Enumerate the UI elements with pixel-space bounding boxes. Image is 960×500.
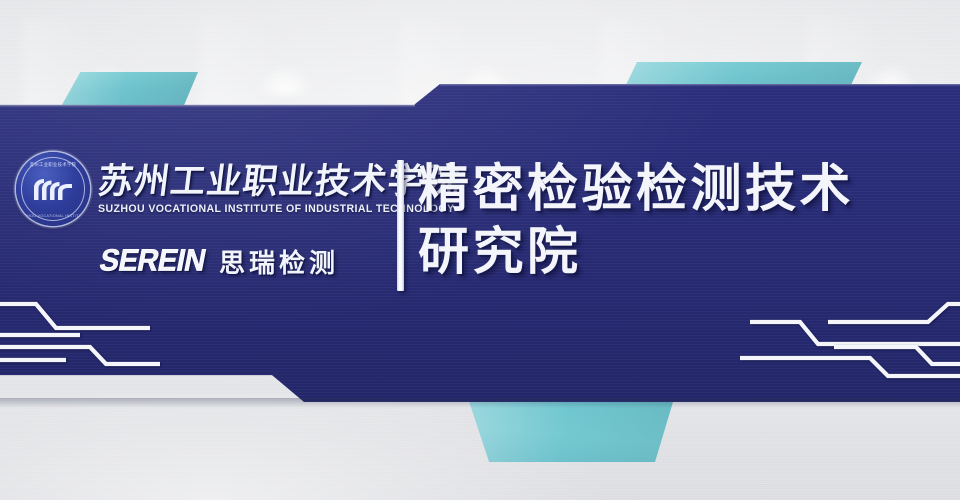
university-name-block: 苏州工业职业技术学院 SUZHOU VOCATIONAL INSTITUTE O… bbox=[98, 163, 460, 216]
partner-brand-row: SEREIN 思瑞检测 bbox=[100, 243, 398, 280]
circuit-trace-group-left bbox=[0, 288, 230, 388]
partner-brand-en: SEREIN bbox=[97, 244, 209, 279]
university-name-en: SUZHOU VOCATIONAL INSTITUTE OF INDUSTRIA… bbox=[98, 203, 460, 215]
partner-brand-cn: 思瑞检测 bbox=[219, 243, 339, 280]
teal-trapezoid-bottom-center bbox=[466, 392, 676, 462]
page-title-line-1: 精密检验检测技术 bbox=[418, 158, 946, 221]
teal-shading bbox=[466, 392, 676, 462]
university-identity-row: 苏州工业职业技术学院 SUZHOU VOCATIONAL INSTITUTE bbox=[16, 152, 398, 226]
page-title-line-2: 研究院 bbox=[418, 221, 946, 284]
university-crest-icon: 苏州工业职业技术学院 SUZHOU VOCATIONAL INSTITUTE bbox=[16, 152, 90, 226]
page-title: 精密检验检测技术 研究院 bbox=[418, 158, 946, 284]
university-name-cn: 苏州工业职业技术学院 bbox=[96, 163, 463, 201]
spotlight-core-2 bbox=[250, 30, 320, 94]
circuit-trace-group-right bbox=[730, 288, 960, 388]
institution-logo-block: 苏州工业职业技术学院 SUZHOU VOCATIONAL INSTITUTE bbox=[16, 152, 398, 280]
crest-arc-top-text: 苏州工业职业技术学院 bbox=[16, 162, 90, 168]
signage-scene: 苏州工业职业技术学院 SUZHOU VOCATIONAL INSTITUTE bbox=[0, 0, 960, 500]
crest-monogram-icon bbox=[32, 177, 74, 202]
crest-arc-bottom-text: SUZHOU VOCATIONAL INSTITUTE bbox=[16, 214, 90, 218]
